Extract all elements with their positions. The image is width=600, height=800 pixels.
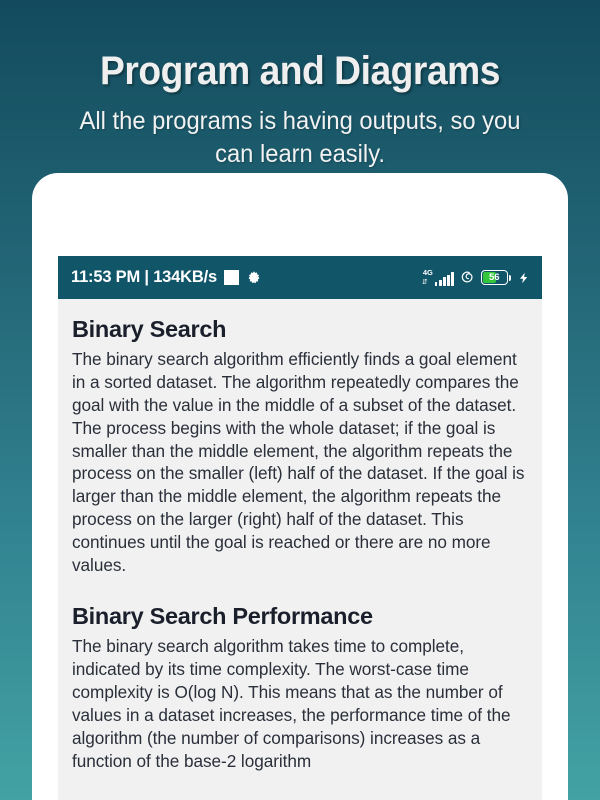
battery-cap [509,275,511,281]
bolt-icon [518,270,530,286]
section-heading-binary-search-performance: Binary Search Performance [72,603,528,631]
battery-body: 56 [481,270,508,285]
signal-icon: 4G ⇵ [422,269,454,286]
promo-subtitle-line2: can learn easily. [15,138,585,171]
network-type-label: 4G [423,269,433,277]
notification-square-icon [224,270,239,285]
article-content: Binary Search The binary search algorith… [58,299,542,773]
section-heading-binary-search: Binary Search [72,316,528,344]
promo-subtitle-line1: All the programs is having outputs, so y… [80,107,521,135]
battery-icon: 56 [481,270,511,285]
promo-subtitle: All the programs is having outputs, so y… [15,105,585,170]
status-clock: 11:53 PM | 134KB/s [71,268,217,287]
section-body-binary-search-performance: The binary search algorithm takes time t… [72,635,528,773]
status-bar: 11:53 PM | 134KB/s 4G ⇵ [58,256,542,299]
status-bar-left: 11:53 PM | 134KB/s [71,268,422,287]
spiral-icon [459,269,476,286]
gear-icon [246,270,262,286]
section-body-binary-search: The binary search algorithm efficiently … [72,348,528,578]
data-arrows-icon: ⇵ [422,279,427,286]
status-bar-right: 4G ⇵ 56 [422,269,530,286]
promo-header: Program and Diagrams All the programs is… [0,0,600,170]
signal-bars-icon [435,272,454,286]
page-title: Program and Diagrams [21,49,579,93]
battery-percent-label: 56 [482,271,507,284]
phone-mockup: 11:53 PM | 134KB/s 4G ⇵ [32,173,568,800]
phone-screen: 11:53 PM | 134KB/s 4G ⇵ [58,256,542,800]
